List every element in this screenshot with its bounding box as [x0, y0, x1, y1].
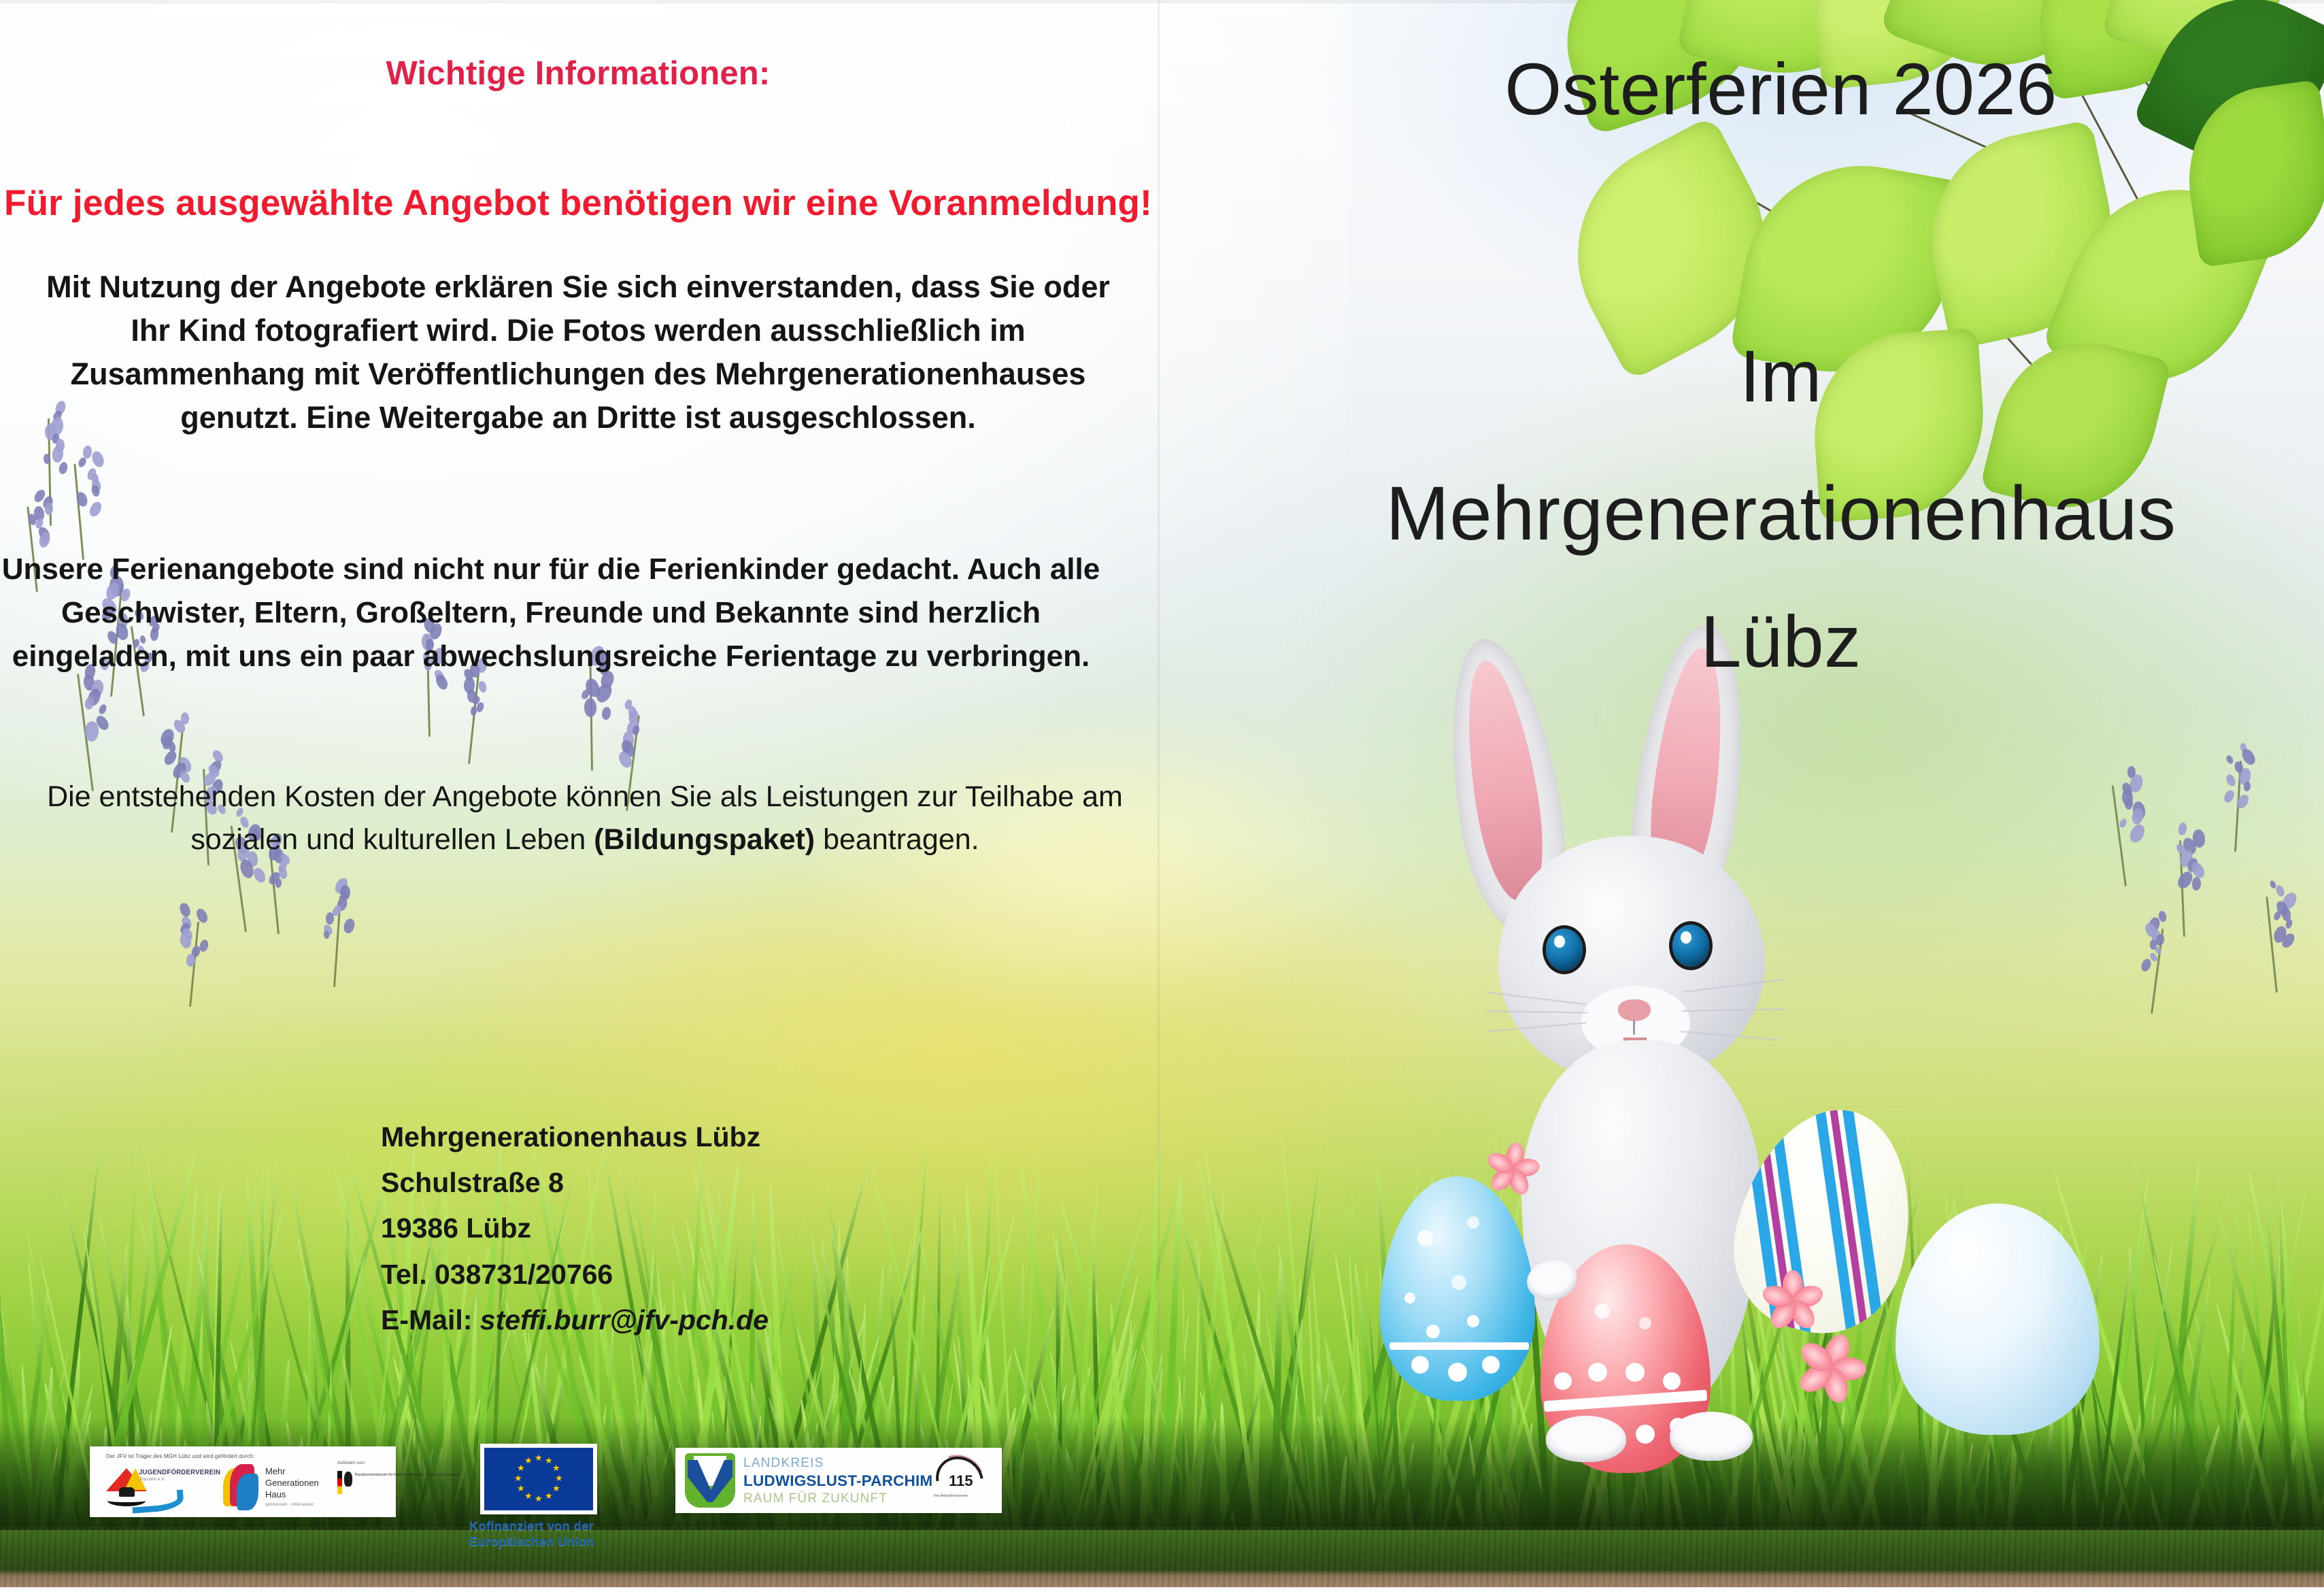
title-line-luebz: Lübz: [1238, 599, 2324, 684]
paragraph-family-invitation: Unsere Ferienangebote sind nicht nur für…: [0, 548, 1102, 678]
paper-fold-crease: [1158, 0, 1160, 1592]
egg-red-dot: [1554, 1372, 1572, 1390]
egg-blue-dot: [1467, 1216, 1479, 1229]
ministry-text: Bundesministerium für Familie, Senioren,…: [355, 1472, 458, 1478]
title-line-mehrgenerationenhaus: Mehrgenerationenhaus: [1238, 469, 2324, 557]
eu-star-icon: ★: [514, 1474, 522, 1482]
contact-address-block: Mehrgenerationenhaus Lübz Schulstraße 8 …: [381, 1114, 769, 1343]
eu-star-icon: ★: [545, 1456, 553, 1465]
address-phone: Tel. 038731/20766: [381, 1252, 769, 1297]
egg-blue-dot: [1426, 1325, 1440, 1338]
bildungspaket-text-post: beantragen.: [815, 823, 979, 856]
address-street: Schulstraße 8: [381, 1160, 769, 1206]
landkreis-logo-card: LANDKREIS LUDWIGSLUST-PARCHIM RAUM FÜR Z…: [675, 1448, 1002, 1513]
eu-cofinance-caption: Kofinanziert von der Europäischen Union: [469, 1519, 646, 1549]
paragraph-bildungspaket: Die entstehenden Kosten der Angebote kön…: [41, 776, 1129, 861]
ministry-label: Gefördert vom:: [337, 1461, 365, 1465]
egg-pale-blue: [1896, 1204, 2100, 1435]
jfv-sub-label: Parchim e.V.: [140, 1477, 165, 1482]
bunny-eye-left: [1546, 929, 1583, 971]
eu-star-icon: ★: [555, 1474, 563, 1482]
bunny-foot-left: [1546, 1416, 1626, 1462]
egg-blue-dot: [1467, 1315, 1479, 1327]
sponsor-note: Der JFV ist Träger des MGH Lübz und wird…: [106, 1453, 367, 1459]
address-email-value[interactable]: steffi.burr@jfv-pch.de: [480, 1304, 769, 1336]
eu-star-icon: ★: [524, 1491, 533, 1500]
pink-flower: [1787, 1326, 1868, 1408]
badge-number: 115: [949, 1472, 973, 1490]
egg-blue-dot: [1411, 1356, 1429, 1374]
egg-red-dot: [1663, 1372, 1681, 1390]
headline-voranmeldung: Für jedes ausgewählte Angebot benötigen …: [0, 182, 1156, 224]
eu-star-icon: ★: [552, 1484, 560, 1493]
egg-red-dot: [1588, 1363, 1607, 1382]
german-flag-icon: [337, 1471, 342, 1494]
bunny-foot-right: [1670, 1412, 1753, 1461]
mgh-name-label: Mehr Generationen Haus: [265, 1465, 319, 1500]
information-column: Wichtige Informationen: Für jedes ausgew…: [0, 0, 1156, 1592]
landkreis-mark-icon: [685, 1453, 735, 1508]
pink-flower: [1478, 1138, 1543, 1204]
eu-star-icon: ★: [535, 1453, 543, 1462]
egg-blue-dot: [1482, 1356, 1500, 1374]
eu-star-icon: ★: [552, 1463, 560, 1472]
eu-star-icon: ★: [524, 1456, 533, 1465]
landkreis-line-2: LUDWIGSLUST-PARCHIM: [743, 1472, 932, 1490]
egg-blue-dot: [1448, 1363, 1467, 1382]
egg-red-dot: [1595, 1304, 1610, 1319]
jfv-swoosh-blue: [131, 1489, 184, 1513]
title-line-im: Im: [1238, 333, 2324, 418]
egg-red-dot: [1639, 1317, 1651, 1329]
eu-caption-line-2: Europäischen Union: [469, 1534, 646, 1550]
mehrgenerationenhaus-icon: [223, 1464, 263, 1512]
bundesministerium-icon: Bundesministerium für Familie, Senioren,…: [337, 1471, 403, 1504]
headline-wichtige-informationen: Wichtige Informationen:: [0, 54, 1156, 93]
european-union-flag-icon: ★★★★★★★★★★★★: [484, 1448, 593, 1510]
bildungspaket-keyword: (Bildungspaket): [594, 823, 815, 856]
egg-blue-band: [1390, 1342, 1529, 1350]
address-city: 19386 Lübz: [381, 1206, 769, 1251]
egg-red-dot: [1636, 1425, 1655, 1444]
egg-red-dot: [1626, 1363, 1645, 1382]
eu-flag-card: ★★★★★★★★★★★★: [480, 1444, 597, 1514]
egg-blue-dot: [1404, 1293, 1415, 1304]
mgh-line-1: Mehr: [265, 1465, 319, 1477]
mgh-sub-label: gemeinsam · miteinander: [265, 1502, 314, 1507]
poster-canvas: Osterferien 2026 Im Mehrgenerationenhaus…: [0, 0, 2324, 1592]
title-line-osterferien: Osterferien 2026: [1238, 46, 2324, 131]
bunny-mouth-line: [1633, 1020, 1635, 1035]
landkreis-line-1: LANDKREIS: [743, 1456, 824, 1471]
egg-blue-dot: [1451, 1275, 1466, 1290]
easter-bunny-scene: [1419, 632, 2324, 1530]
landkreis-line-3: RAUM FÜR ZUKUNFT: [743, 1491, 888, 1506]
address-email-row: E-Mail: steffi.burr@jfv-pch.de: [381, 1297, 769, 1343]
mgh-line-3: Haus: [265, 1489, 319, 1500]
mgh-line-2: Generationen: [265, 1477, 319, 1489]
eu-caption-line-1: Kofinanziert von der: [469, 1519, 646, 1534]
jfv-name-label: JUGENDFÖRDERVEREIN: [139, 1468, 220, 1476]
federal-eagle-icon: [344, 1472, 352, 1487]
address-org-name: Mehrgenerationenhaus Lübz: [381, 1114, 769, 1160]
mgh-blob-blue: [237, 1474, 258, 1510]
behoerdennummer-115-icon: 115 Ihre Behördennummer: [931, 1457, 994, 1505]
eu-star-icon: ★: [517, 1484, 525, 1493]
address-email-label: E-Mail:: [381, 1304, 480, 1336]
paragraph-photo-consent: Mit Nutzung der Angebote erklären Sie si…: [34, 265, 1122, 440]
bunny-nose: [1618, 999, 1651, 1021]
eu-star-icon: ★: [545, 1491, 553, 1500]
egg-red-band: [1544, 1389, 1708, 1412]
badge-sub-label: Ihre Behördennummer: [934, 1494, 968, 1498]
egg-blue-dot: [1417, 1230, 1434, 1246]
sponsor-logo-card: Der JFV ist Träger des MGH Lübz und wird…: [90, 1446, 396, 1517]
eu-star-icon: ★: [535, 1494, 543, 1503]
eu-star-icon: ★: [517, 1463, 525, 1472]
bunny-eye-right: [1672, 925, 1709, 967]
